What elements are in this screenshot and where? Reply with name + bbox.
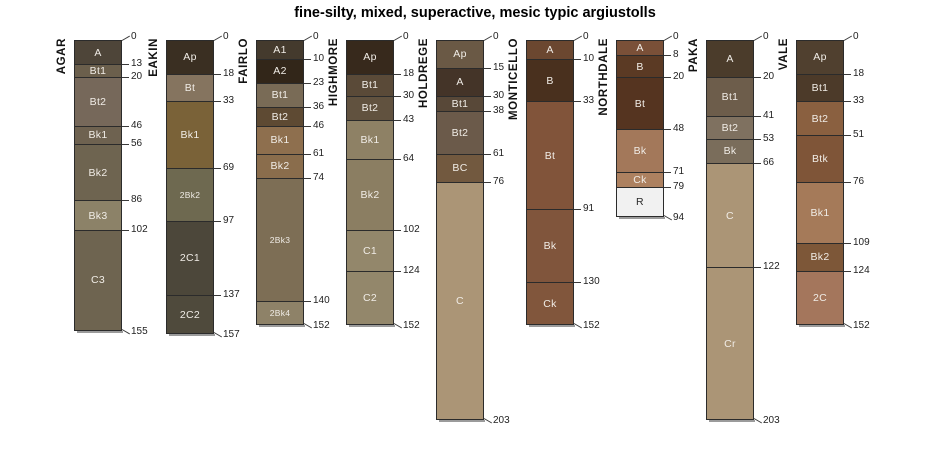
depth-value: 15	[493, 63, 504, 73]
horizon-segment[interactable]: Bk1	[347, 121, 393, 160]
horizon-label: Bt2	[812, 113, 829, 125]
depth-value: 140	[313, 296, 330, 306]
depth-value: 0	[493, 32, 499, 42]
depth-value: 36	[313, 102, 324, 112]
horizon-label: 2Bk2	[180, 190, 201, 200]
depth-value: 157	[223, 330, 240, 340]
depth-tick	[844, 182, 851, 183]
horizon-segment[interactable]: C	[437, 183, 483, 419]
horizon-label: Bk1	[811, 207, 830, 219]
horizon-segment[interactable]: Bt2	[257, 108, 303, 127]
horizon-segment[interactable]: 2C	[797, 272, 843, 324]
horizon-label: Bt	[185, 82, 196, 94]
depth-value: 38	[493, 106, 504, 116]
depth-tick	[844, 36, 852, 41]
horizon-label: Bt2	[272, 111, 289, 123]
horizon-segment[interactable]: Bt	[617, 78, 663, 130]
depth-tick	[304, 178, 311, 179]
depth-tick	[484, 36, 492, 41]
horizon-label: Ck	[633, 174, 646, 186]
depth-value: 152	[403, 321, 420, 331]
depth-tick	[122, 200, 129, 201]
profile-name-paka: PAKA	[688, 38, 700, 72]
horizon-segment[interactable]: R	[617, 188, 663, 216]
profile-column[interactable]: ABt1Bt2Bk1Bk2Bk3C3	[74, 40, 122, 331]
depth-value: 109	[853, 238, 870, 248]
horizon-segment[interactable]: BC	[437, 155, 483, 183]
depth-tick	[394, 271, 401, 272]
horizon-label: C	[726, 210, 734, 222]
horizon-segment[interactable]: Bk2	[75, 145, 121, 201]
horizon-segment[interactable]: Bt2	[437, 112, 483, 155]
horizon-label: Bk2	[811, 251, 830, 263]
horizon-segment[interactable]: B	[527, 60, 573, 103]
depth-tick	[304, 154, 311, 155]
horizon-label: A2	[273, 65, 286, 77]
horizon-label: Bt1	[90, 65, 107, 77]
depth-tick	[122, 64, 129, 65]
depth-value: 76	[493, 177, 504, 187]
depth-tick	[122, 126, 129, 127]
depth-tick	[214, 101, 221, 102]
horizon-label: Ap	[183, 51, 196, 63]
depth-value: 0	[403, 32, 409, 42]
horizon-label: A	[726, 53, 733, 65]
depth-tick	[304, 36, 312, 41]
depth-value: 0	[223, 32, 229, 42]
depth-value: 71	[673, 167, 684, 177]
depth-tick	[754, 163, 761, 164]
horizon-label: Ap	[453, 48, 466, 60]
horizon-segment[interactable]: A	[437, 69, 483, 97]
depth-tick	[574, 101, 581, 102]
profile-name-vale: VALE	[778, 38, 790, 70]
depth-value: 13	[131, 59, 142, 69]
profile-column[interactable]: ApBt1Bt2BtkBk1Bk22C	[796, 40, 844, 325]
horizon-label: C	[456, 295, 464, 307]
depth-tick	[304, 83, 311, 84]
horizon-segment[interactable]: Bk1	[257, 127, 303, 155]
horizon-label: Bk1	[181, 129, 200, 141]
horizon-segment[interactable]: Bt1	[257, 84, 303, 108]
depth-value: 74	[313, 173, 324, 183]
depth-value: 8	[673, 50, 679, 60]
depth-value: 76	[853, 177, 864, 187]
horizon-segment[interactable]: 2Bk3	[257, 179, 303, 302]
horizon-segment[interactable]: Bk2	[347, 160, 393, 231]
horizon-segment[interactable]: 2Bk2	[167, 169, 213, 221]
depth-tick	[664, 77, 671, 78]
depth-tick	[844, 271, 851, 272]
horizon-label: A	[636, 42, 643, 54]
column-shadow	[529, 325, 575, 327]
horizon-label: Bt1	[362, 79, 379, 91]
depth-value: 10	[313, 54, 324, 64]
horizon-label: Bk2	[271, 160, 290, 172]
horizon-label: Bk1	[89, 129, 108, 141]
profile-name-highmore: HIGHMORE	[328, 38, 340, 106]
column-shadow	[169, 334, 215, 336]
horizon-segment[interactable]: C	[707, 164, 753, 268]
depth-value: 53	[763, 134, 774, 144]
depth-tick	[664, 187, 671, 188]
horizon-label: Bt1	[452, 98, 469, 110]
horizon-label: 2C1	[180, 252, 200, 264]
horizon-label: Bk3	[89, 210, 108, 222]
depth-tick	[304, 126, 311, 127]
depth-tick	[844, 243, 851, 244]
depth-tick	[394, 159, 401, 160]
column-shadow	[799, 325, 845, 327]
depth-value: 46	[313, 121, 324, 131]
horizon-segment[interactable]: Bt1	[797, 75, 843, 103]
horizon-label: C3	[91, 274, 105, 286]
horizon-label: BC	[452, 162, 467, 174]
depth-tick	[214, 221, 221, 222]
profile-column[interactable]: ApABt1Bt2BCC	[436, 40, 484, 420]
horizon-segment[interactable]: Ap	[347, 41, 393, 75]
depth-tick	[754, 139, 761, 140]
depth-tick	[664, 36, 672, 41]
depth-tick	[304, 107, 311, 108]
horizon-label: 2C2	[180, 309, 200, 321]
horizon-segment[interactable]: Cr	[707, 268, 753, 419]
depth-value: 0	[673, 32, 679, 42]
horizon-segment[interactable]: A	[707, 41, 753, 78]
profile-column[interactable]: ABBtBkCkR	[616, 40, 664, 217]
depth-value: 203	[493, 416, 510, 426]
depth-tick	[574, 59, 581, 60]
profile-column[interactable]: ApBt1Bt2Bk1Bk2C1C2	[346, 40, 394, 325]
depth-tick	[394, 96, 401, 97]
horizon-label: Bt	[545, 150, 556, 162]
depth-tick	[844, 74, 851, 75]
horizon-segment[interactable]: Bt1	[707, 78, 753, 117]
horizon-segment[interactable]: Bt	[527, 102, 573, 210]
horizon-segment[interactable]: Ck	[617, 173, 663, 188]
depth-value: 30	[493, 91, 504, 101]
depth-tick	[664, 172, 671, 173]
depth-value: 20	[673, 72, 684, 82]
horizon-label: Bt1	[722, 91, 739, 103]
depth-tick	[484, 96, 491, 97]
depth-tick	[574, 36, 582, 41]
horizon-label: Bt	[635, 98, 646, 110]
depth-tick	[664, 129, 671, 130]
depth-value: 0	[131, 32, 137, 42]
horizon-label: Bt2	[722, 122, 739, 134]
horizon-label: 2C	[813, 292, 827, 304]
depth-value: 33	[853, 96, 864, 106]
depth-value: 18	[403, 69, 414, 79]
horizon-label: A	[94, 47, 101, 59]
horizon-segment[interactable]: Btk	[797, 136, 843, 183]
horizon-segment[interactable]: Ck	[527, 283, 573, 324]
horizon-segment[interactable]: Bt1	[75, 65, 121, 78]
horizon-label: Bt2	[362, 102, 379, 114]
horizon-label: Cr	[724, 338, 736, 350]
horizon-segment[interactable]: Bt2	[707, 117, 753, 139]
depth-tick	[304, 301, 311, 302]
depth-value: 10	[583, 54, 594, 64]
horizon-label: Bt1	[272, 89, 289, 101]
column-shadow	[709, 420, 755, 422]
horizon-segment[interactable]: Bt2	[797, 102, 843, 136]
horizon-segment[interactable]: Bk1	[797, 183, 843, 244]
horizon-segment[interactable]: Bk2	[797, 244, 843, 272]
horizon-segment[interactable]: B	[617, 56, 663, 78]
horizon-segment[interactable]: 2C2	[167, 296, 213, 333]
horizon-segment[interactable]: Ap	[797, 41, 843, 75]
profile-name-holdrege: HOLDREGE	[418, 38, 430, 108]
profile-column[interactable]: ApBtBk12Bk22C12C2	[166, 40, 214, 334]
depth-value: 79	[673, 182, 684, 192]
depth-tick	[122, 36, 130, 41]
horizon-label: Btk	[812, 153, 828, 165]
depth-tick	[484, 68, 491, 69]
depth-value: 86	[131, 195, 142, 205]
depth-value: 61	[313, 149, 324, 159]
horizon-segment[interactable]: Bt2	[347, 97, 393, 121]
depth-value: 97	[223, 216, 234, 226]
horizon-segment[interactable]: Bk1	[75, 127, 121, 146]
column-shadow	[77, 331, 123, 333]
depth-value: 0	[763, 32, 769, 42]
horizon-segment[interactable]: Bt1	[347, 75, 393, 97]
horizon-label: C2	[363, 292, 377, 304]
horizon-segment[interactable]: Ap	[167, 41, 213, 75]
depth-tick	[394, 120, 401, 121]
horizon-label: Ck	[543, 298, 556, 310]
horizon-segment[interactable]: C2	[347, 272, 393, 324]
page-title: fine-silty, mixed, superactive, mesic ty…	[0, 0, 950, 23]
column-shadow	[259, 325, 305, 327]
horizon-segment[interactable]: C3	[75, 231, 121, 330]
horizon-segment[interactable]: A1	[257, 41, 303, 60]
horizon-label: A	[546, 44, 553, 56]
depth-tick	[754, 77, 761, 78]
profile-name-fairlo: FAIRLO	[238, 38, 250, 84]
horizon-label: 2Bk3	[270, 235, 291, 245]
horizon-segment[interactable]: Bk1	[167, 102, 213, 169]
depth-value: 137	[223, 290, 240, 300]
depth-tick	[484, 154, 491, 155]
horizon-label: 2Bk4	[270, 308, 291, 318]
depth-tick	[394, 36, 402, 41]
horizon-segment[interactable]: A	[75, 41, 121, 65]
depth-tick	[214, 295, 221, 296]
depth-value: 61	[493, 149, 504, 159]
horizon-segment[interactable]: A2	[257, 60, 303, 84]
depth-value: 30	[403, 91, 414, 101]
depth-value: 124	[403, 266, 420, 276]
profile-name-northdale: NORTHDALE	[598, 38, 610, 116]
horizon-label: B	[636, 61, 643, 73]
horizon-label: Bk1	[271, 134, 290, 146]
horizon-segment[interactable]: Bt2	[75, 78, 121, 126]
depth-value: 152	[583, 321, 600, 331]
depth-value: 66	[763, 158, 774, 168]
horizon-label: Bk	[634, 145, 647, 157]
depth-tick	[574, 209, 581, 210]
profile-column[interactable]: ABt1Bt2BkCCr	[706, 40, 754, 420]
depth-value: 48	[673, 124, 684, 134]
horizon-segment[interactable]: Bt1	[437, 97, 483, 112]
depth-value: 64	[403, 154, 414, 164]
depth-value: 91	[583, 204, 594, 214]
depth-value: 43	[403, 115, 414, 125]
profile-name-agar: AGAR	[56, 38, 68, 74]
horizon-label: C1	[363, 245, 377, 257]
column-shadow	[439, 420, 485, 422]
depth-value: 46	[131, 121, 142, 131]
depth-value: 203	[763, 416, 780, 426]
horizon-segment[interactable]: A	[527, 41, 573, 60]
depth-tick	[214, 36, 222, 41]
depth-value: 155	[131, 327, 148, 337]
horizon-segment[interactable]: Bk	[617, 130, 663, 173]
depth-value: 41	[763, 111, 774, 121]
horizon-label: Ap	[813, 51, 826, 63]
depth-value: 33	[223, 96, 234, 106]
depth-tick	[484, 111, 491, 112]
depth-value: 18	[853, 69, 864, 79]
depth-value: 20	[763, 72, 774, 82]
horizon-segment[interactable]: C1	[347, 231, 393, 272]
depth-value: 20	[131, 72, 142, 82]
profile-column[interactable]: ABBtBkCk	[526, 40, 574, 325]
depth-tick	[754, 116, 761, 117]
horizon-segment[interactable]: 2C1	[167, 222, 213, 296]
horizon-label: Bt2	[452, 127, 469, 139]
horizon-segment[interactable]: Bt	[167, 75, 213, 103]
depth-value: 18	[223, 69, 234, 79]
depth-value: 56	[131, 139, 142, 149]
horizon-segment[interactable]: Bk2	[257, 155, 303, 179]
horizon-label: Bk2	[89, 167, 108, 179]
horizon-label: Bt2	[90, 96, 107, 108]
column-shadow	[619, 217, 665, 219]
horizon-label: Bk1	[361, 134, 380, 146]
horizon-segment[interactable]: Bk	[707, 140, 753, 164]
horizon-label: R	[636, 196, 644, 208]
depth-value: 51	[853, 130, 864, 140]
depth-value: 152	[313, 321, 330, 331]
depth-tick	[664, 55, 671, 56]
depth-tick	[122, 230, 129, 231]
profile-name-eakin: EAKIN	[148, 38, 160, 77]
depth-value: 0	[313, 32, 319, 42]
horizon-label: A1	[273, 44, 286, 56]
depth-tick	[754, 267, 761, 268]
depth-value: 130	[583, 277, 600, 287]
horizon-segment[interactable]: A	[617, 41, 663, 56]
depth-tick	[844, 135, 851, 136]
horizon-label: Ap	[363, 51, 376, 63]
horizon-segment[interactable]: Bk	[527, 210, 573, 283]
depth-tick	[304, 59, 311, 60]
depth-value: 33	[583, 96, 594, 106]
depth-tick	[394, 74, 401, 75]
horizon-label: Bk	[724, 145, 737, 157]
depth-tick	[574, 282, 581, 283]
depth-tick	[394, 230, 401, 231]
depth-tick	[122, 144, 129, 145]
depth-value: 23	[313, 78, 324, 88]
horizon-label: A	[456, 76, 463, 88]
column-shadow	[349, 325, 395, 327]
depth-tick	[754, 36, 762, 41]
depth-tick	[122, 77, 129, 78]
depth-value: 122	[763, 262, 780, 272]
horizon-segment[interactable]: 2Bk4	[257, 302, 303, 324]
depth-value: 69	[223, 163, 234, 173]
horizon-label: Bk	[544, 240, 557, 252]
horizon-label: Bk2	[361, 189, 380, 201]
depth-tick	[484, 182, 491, 183]
depth-value: 102	[131, 225, 148, 235]
depth-value: 94	[673, 213, 684, 223]
depth-value: 0	[853, 32, 859, 42]
profile-column[interactable]: A1A2Bt1Bt2Bk1Bk22Bk32Bk4	[256, 40, 304, 325]
depth-value: 0	[583, 32, 589, 42]
depth-value: 102	[403, 225, 420, 235]
depth-tick	[214, 74, 221, 75]
depth-value: 124	[853, 266, 870, 276]
horizon-label: B	[546, 75, 553, 87]
profile-name-monticello: MONTICELLO	[508, 38, 520, 120]
depth-tick	[844, 101, 851, 102]
horizon-segment[interactable]: Ap	[437, 41, 483, 69]
depth-value: 152	[853, 321, 870, 331]
depth-tick	[214, 168, 221, 169]
horizon-segment[interactable]: Bk3	[75, 201, 121, 231]
horizon-label: Bt1	[812, 82, 829, 94]
